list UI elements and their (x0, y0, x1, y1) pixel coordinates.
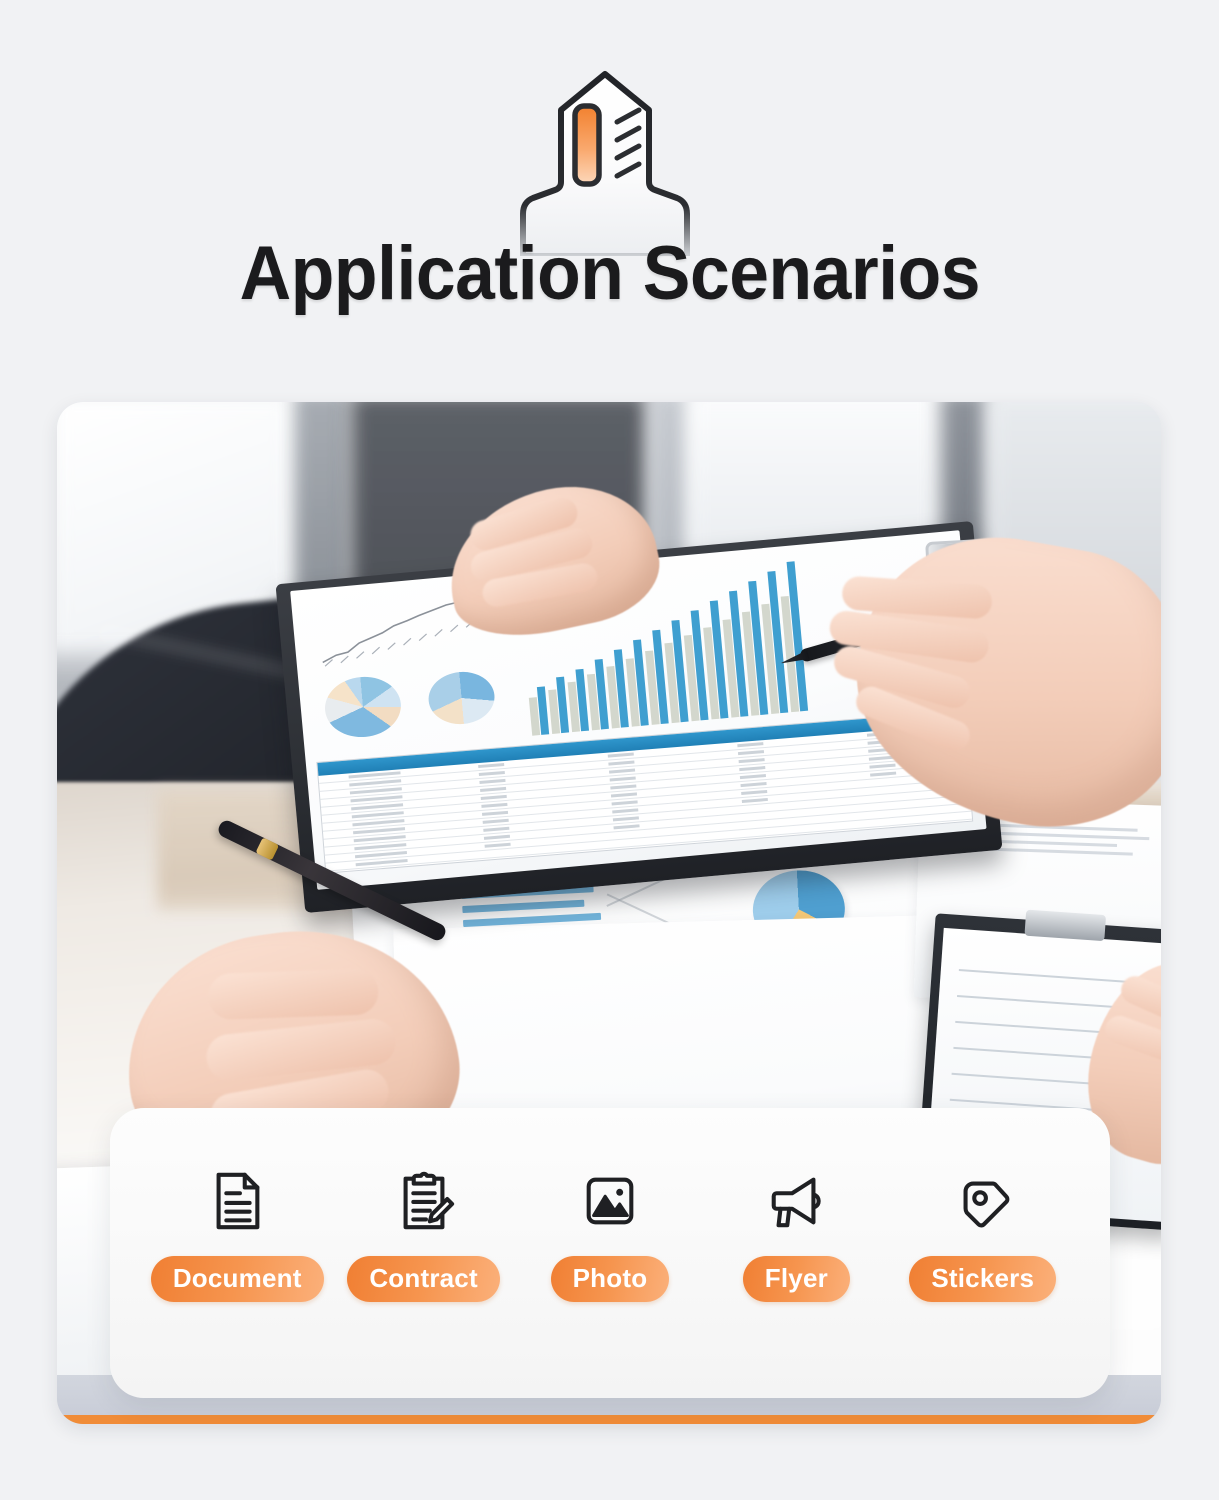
megaphone-icon (759, 1164, 833, 1238)
page-title: Application Scenarios (239, 236, 979, 312)
feature-stickers[interactable]: Stickers (892, 1164, 1074, 1302)
bar-pair (528, 686, 549, 735)
pie-chart (322, 674, 403, 741)
feature-contract[interactable]: Contract (333, 1164, 515, 1302)
price-tag-icon (946, 1164, 1020, 1238)
title-row: Application Scenarios (0, 236, 1219, 312)
bar-pair (586, 659, 609, 730)
building-tower-icon (497, 66, 713, 256)
bar-pair (566, 669, 589, 732)
feature-flyer[interactable]: Flyer (705, 1164, 887, 1302)
bar (462, 900, 584, 913)
feature-badge-label[interactable]: Document (151, 1256, 324, 1302)
document-page-icon (200, 1164, 274, 1238)
image-picture-icon (573, 1164, 647, 1238)
feature-badge-label[interactable]: Flyer (743, 1256, 850, 1302)
pie-chart (426, 669, 496, 727)
orange-accent-underline (57, 1415, 1161, 1424)
scenario-feature-card: Document Contract Photo (110, 1108, 1110, 1398)
feature-photo[interactable]: Photo (519, 1164, 701, 1302)
clipboard-pen-icon (387, 1164, 461, 1238)
feature-badge-label[interactable]: Contract (347, 1256, 500, 1302)
feature-document[interactable]: Document (146, 1164, 328, 1302)
feature-badge-label[interactable]: Photo (551, 1256, 670, 1302)
bar-pair (547, 677, 569, 734)
feature-badge-label[interactable]: Stickers (909, 1256, 1056, 1302)
page-header: Application Scenarios (0, 0, 1219, 390)
clipboard-clip (1024, 910, 1106, 942)
